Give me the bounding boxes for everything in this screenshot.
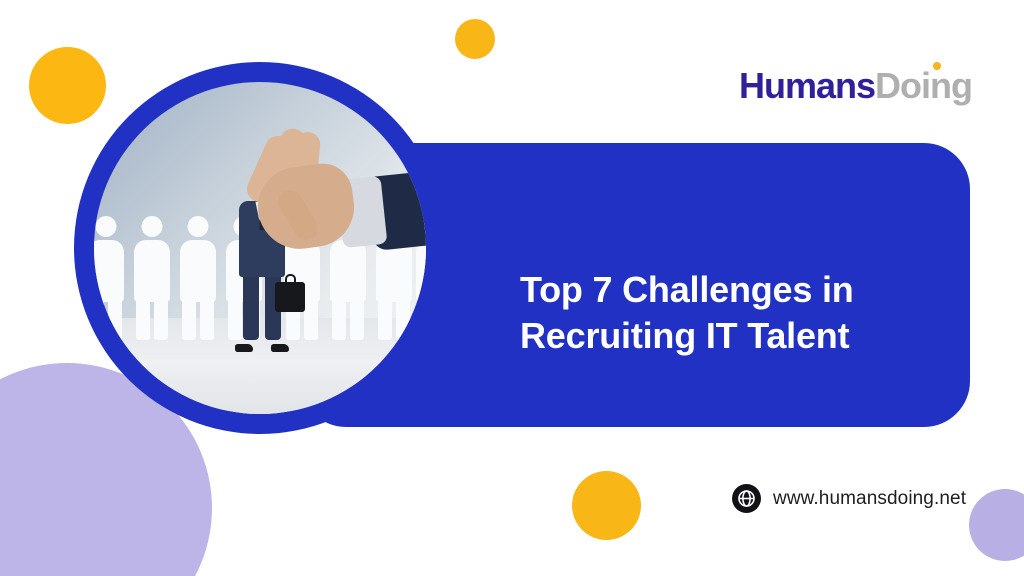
briefcase-icon [275,282,305,312]
crowd-figure-leg [396,298,410,340]
crowd-figure-leg [350,298,364,340]
logo-dot-icon [933,62,941,70]
brand-logo-doing: Doing [875,65,972,106]
lavender-circle-bottom-right [969,489,1024,561]
hero-photo [94,82,426,414]
crowd-figure-leg [136,298,150,340]
crowd-figure [94,216,124,340]
crowd-figure-leg [154,298,168,340]
businessman-shoe [235,344,253,352]
page-title: Top 7 Challenges in Recruiting IT Talent [520,267,950,359]
orange-circle-bottom [572,471,641,540]
website-url[interactable]: www.humansdoing.net [732,484,966,513]
banner-canvas: Top 7 Challenges in Recruiting IT Talent… [0,0,1024,576]
crowd-figure-leg [108,298,122,340]
website-url-text: www.humansdoing.net [773,488,966,510]
businessman-shoe [271,344,289,352]
brand-logo-humans: Humans [739,65,875,106]
brand-logo-doing-text: Doing [875,65,972,106]
crowd-figure-leg [304,298,318,340]
crowd-figure-head [96,216,117,237]
crowd-figure [180,216,216,340]
globe-icon [732,484,761,513]
orange-circle-top-left [29,47,106,124]
crowd-figure-leg [332,298,346,340]
crowd-figure-leg [182,298,196,340]
crowd-figure-leg [94,298,104,340]
crowd-figure-body [180,240,216,302]
orange-circle-top [455,19,495,59]
crowd-figure [134,216,170,340]
crowd-figure-leg [418,298,426,340]
crowd-figure-head [188,216,209,237]
crowd-figure-body [134,240,170,302]
brand-logo[interactable]: HumansDoing [739,68,972,104]
magnifier-circle [74,62,446,434]
giant-hand [212,126,426,276]
crowd-figure-leg [200,298,214,340]
crowd-figure-body [94,240,124,302]
crowd-figure-head [142,216,163,237]
crowd-figure-leg [378,298,392,340]
